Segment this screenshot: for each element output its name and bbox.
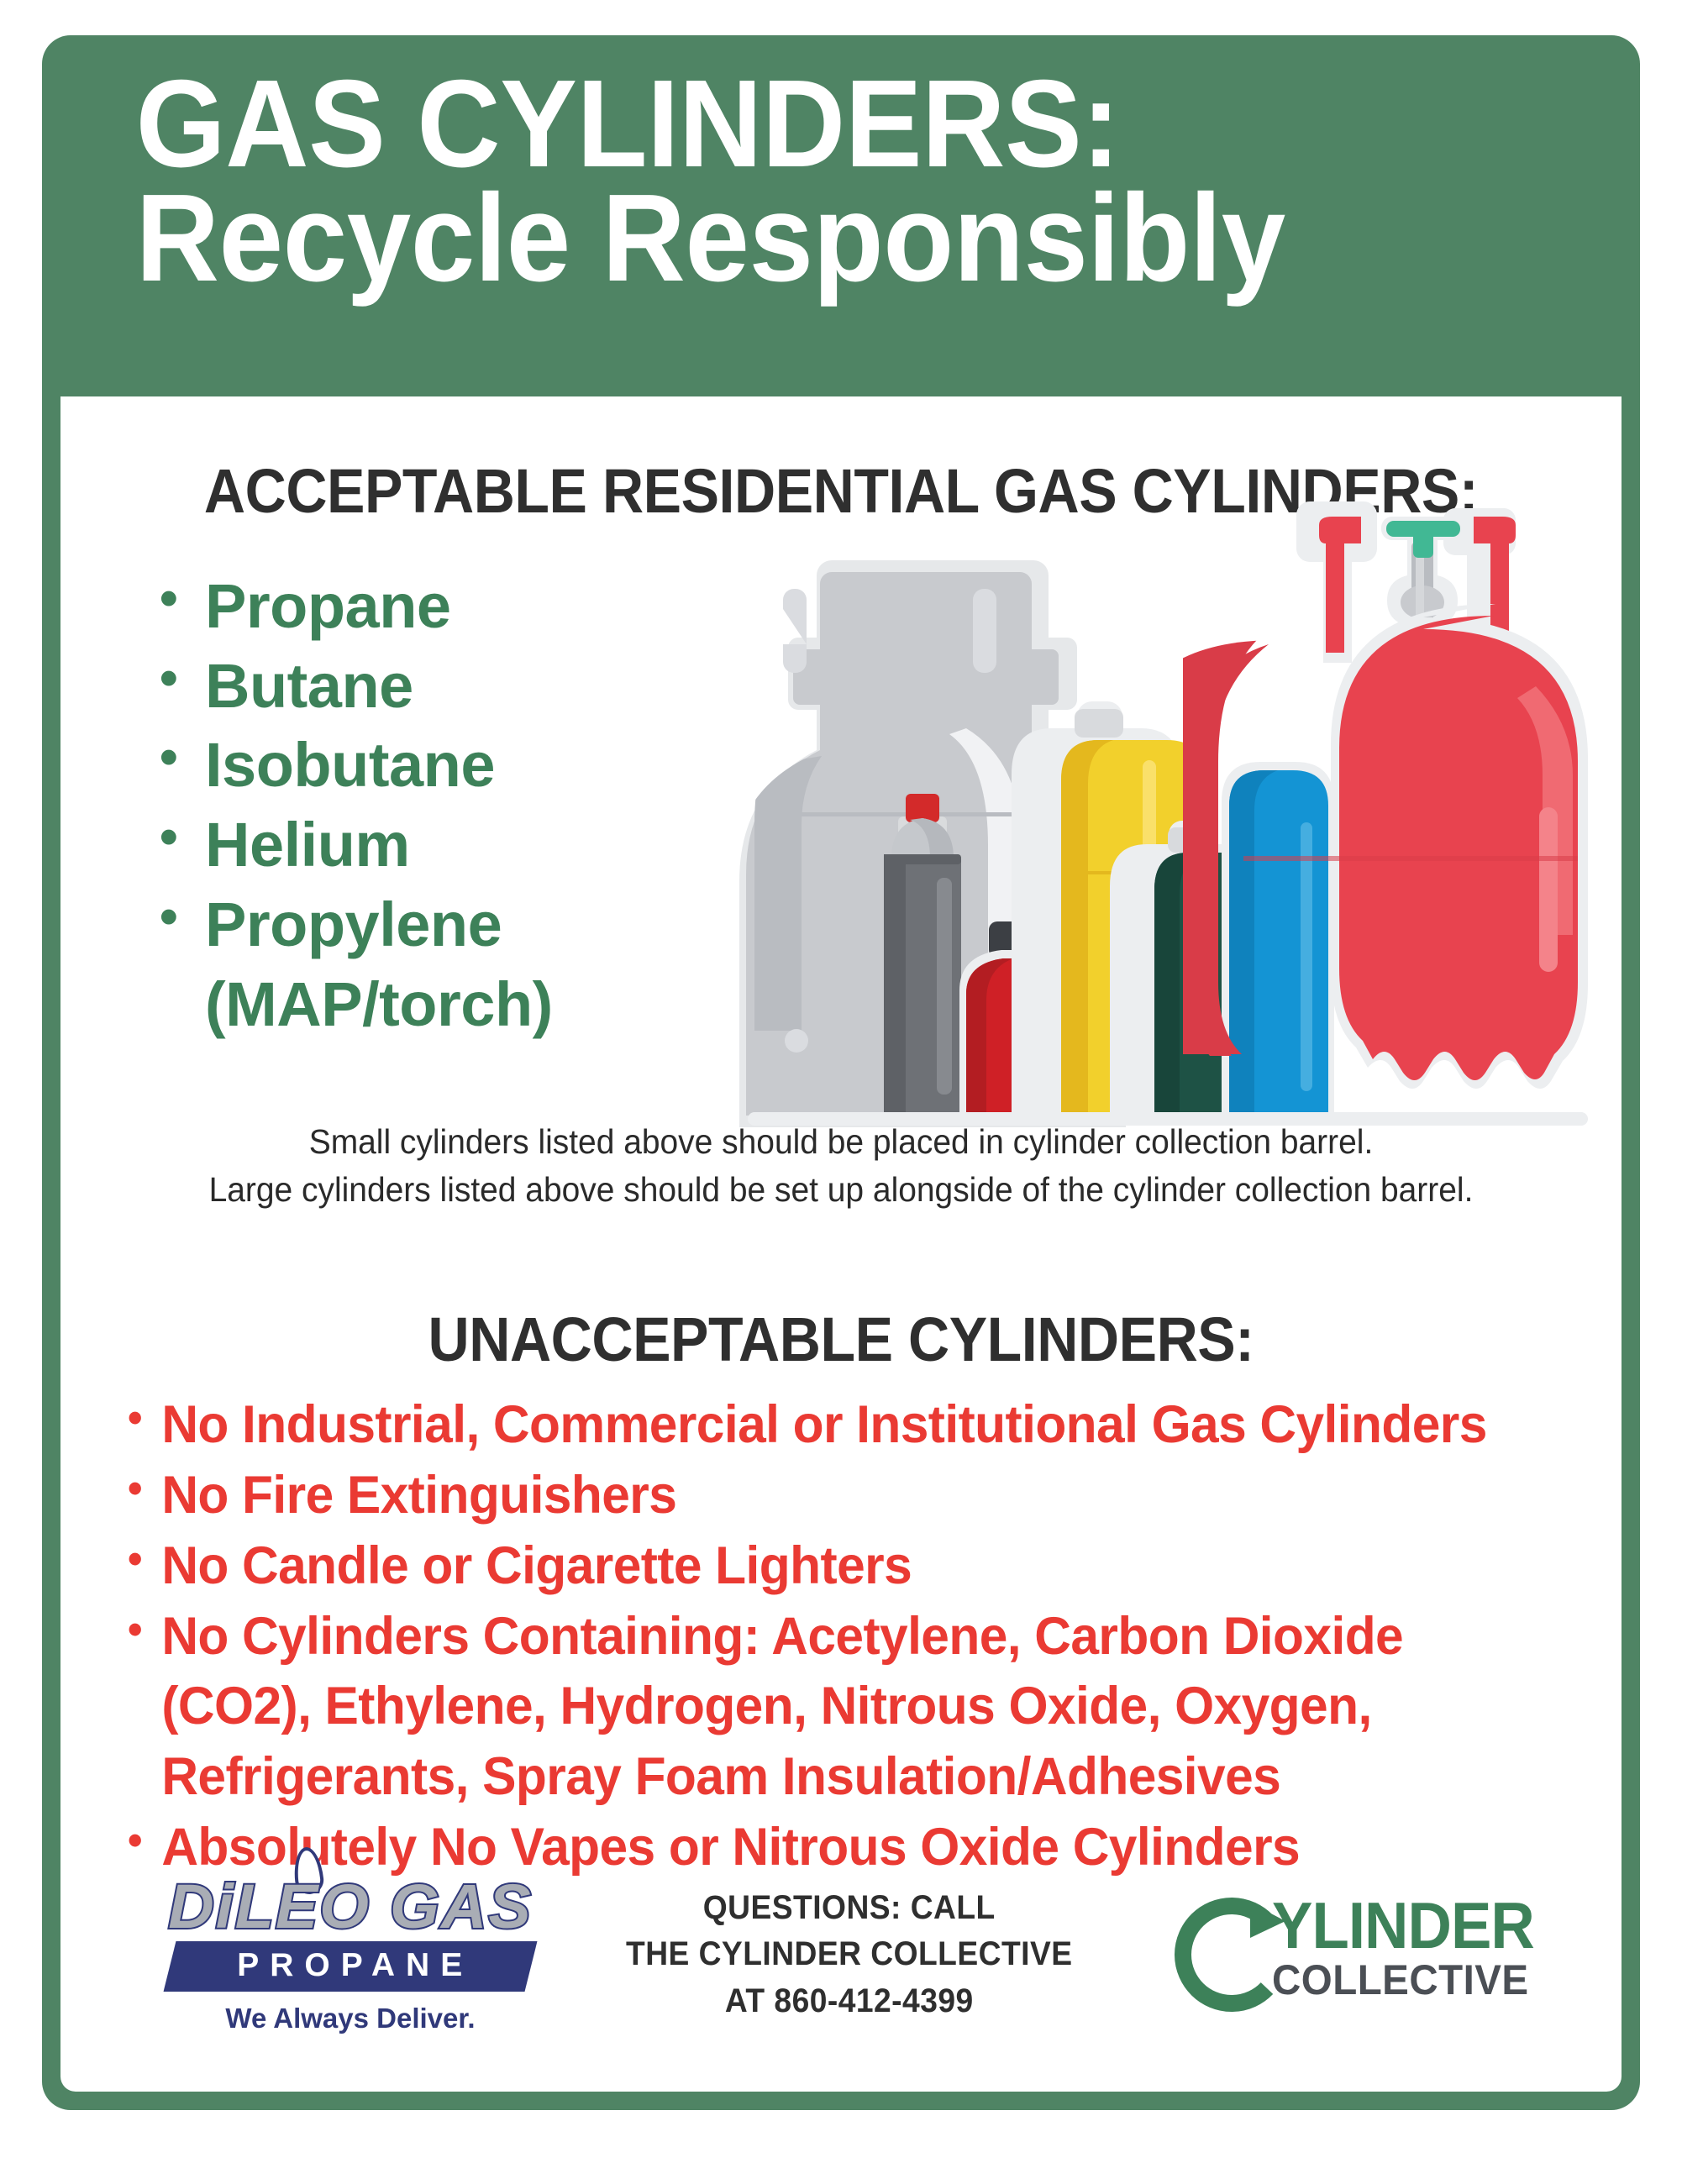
gas-cylinders-illustration — [689, 476, 1596, 1131]
poster-header: GAS CYLINDERS: Recycle Responsibly — [42, 35, 1640, 296]
cylinder-collective-wordmark: YLINDER COLLECTIVE — [1272, 1898, 1553, 2001]
dileo-gas-logo: DiLEO GAS PROPANE We Always Deliver. — [170, 1876, 531, 2034]
list-item: Propylene (MAP/torch) — [153, 885, 623, 1044]
list-item: Propane — [153, 567, 623, 647]
cc-line-2: COLLECTIVE — [1272, 1959, 1540, 2001]
questions-block: QUESTIONS: CALL THE CYLINDER COLLECTIVE … — [626, 1885, 1073, 2024]
poster-content: ACCEPTABLE RESIDENTIAL GAS CYLINDERS: Pr… — [60, 396, 1622, 2092]
list-item: Isobutane — [153, 726, 623, 806]
cc-line-1: YLINDER — [1272, 1898, 1534, 1953]
dileo-banner: PROPANE — [164, 1941, 538, 1992]
questions-line-1: QUESTIONS: CALL — [626, 1885, 1073, 1931]
phone-number: AT 860-412-4399 — [626, 1978, 1073, 2024]
blue-cylinder-icon — [1222, 762, 1334, 1115]
dileo-banner-label: PROPANE — [237, 1947, 473, 1984]
page-title-line1: GAS CYLINDERS: — [42, 67, 1528, 181]
acceptable-row: Propane Butane Isobutane Helium Propylen… — [60, 527, 1622, 1115]
page-title-line2: Recycle Responsibly — [42, 181, 1528, 296]
list-item: Helium — [153, 806, 623, 885]
list-item: Butane — [153, 647, 623, 727]
list-item: No Fire Extinguishers — [128, 1461, 1506, 1531]
questions-line-2: THE CYLINDER COLLECTIVE — [626, 1931, 1073, 1977]
unacceptable-heading: UNACCEPTABLE CYLINDERS: — [123, 1304, 1558, 1375]
poster-frame: GAS CYLINDERS: Recycle Responsibly ACCEP… — [42, 35, 1640, 2110]
note-line-2: Large cylinders listed above should be s… — [99, 1166, 1582, 1214]
list-item: No Industrial, Commercial or Institution… — [128, 1390, 1506, 1461]
list-item: No Cylinders Containing: Acetylene, Carb… — [128, 1602, 1506, 1813]
dileo-wordmark: DiLEO GAS — [166, 1876, 535, 1938]
placement-notes: Small cylinders listed above should be p… — [60, 1118, 1622, 1213]
dileo-tagline: We Always Deliver. — [170, 2003, 531, 2034]
acceptable-list: Propane Butane Isobutane Helium Propylen… — [153, 567, 623, 1044]
poster-footer: DiLEO GAS PROPANE We Always Deliver. QUE… — [60, 1850, 1622, 2060]
spray-can-icon — [884, 794, 961, 1115]
list-item: No Candle or Cigarette Lighters — [128, 1531, 1506, 1602]
cylinder-collective-logo: YLINDER COLLECTIVE — [1168, 1884, 1529, 2026]
unacceptable-list: No Industrial, Commercial or Institution… — [60, 1390, 1622, 1882]
note-line-1: Small cylinders listed above should be p… — [99, 1118, 1582, 1166]
